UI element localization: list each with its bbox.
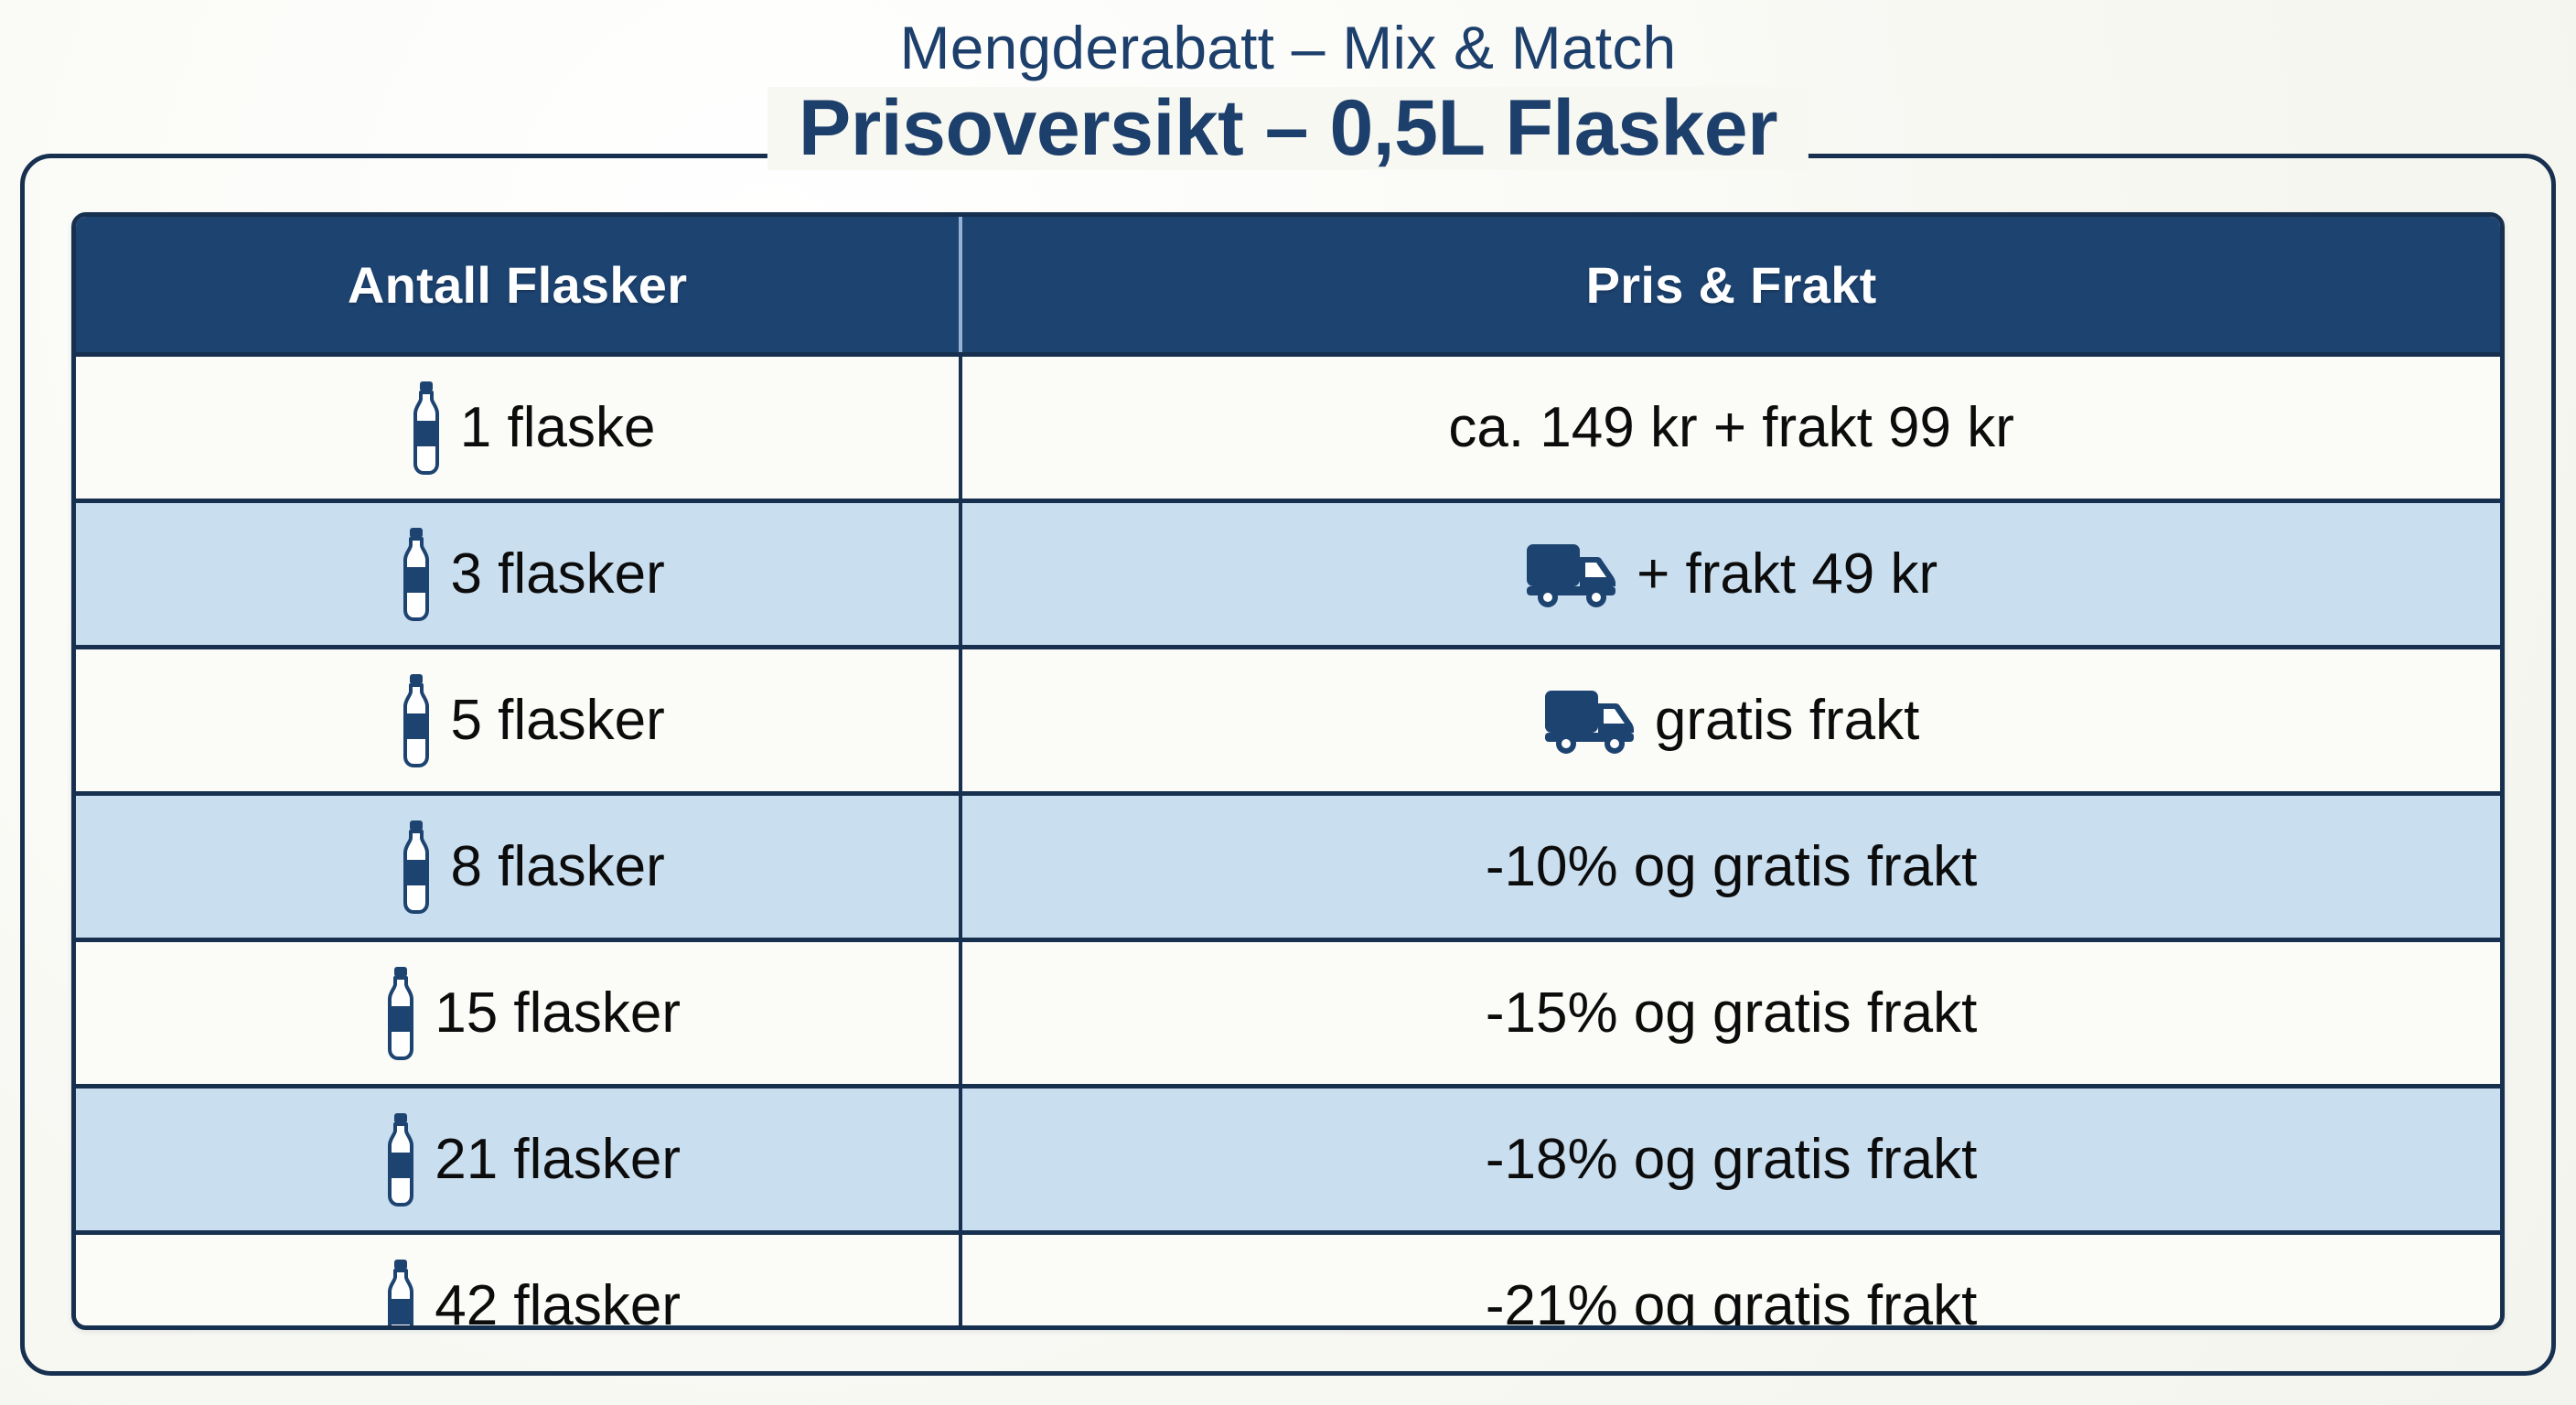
bottle-icon — [380, 1259, 422, 1331]
quantity-content: 42 flasker — [111, 1259, 950, 1331]
quantity-label: 15 flasker — [435, 985, 681, 1042]
cell-price: -10% og gratis frakt — [961, 794, 2500, 940]
price-content: ca. 149 kr + frakt 99 kr — [971, 400, 2491, 456]
table-head: Antall Flasker Pris & Frakt — [76, 217, 2500, 355]
quantity-label: 3 flasker — [450, 546, 664, 603]
cell-price: -18% og gratis frakt — [961, 1087, 2500, 1233]
price-content: -10% og gratis frakt — [971, 839, 2491, 896]
cell-quantity: 42 flasker — [76, 1233, 961, 1331]
bottle-icon — [380, 1112, 422, 1207]
table-header-row: Antall Flasker Pris & Frakt — [76, 217, 2500, 355]
price-content: -15% og gratis frakt — [971, 985, 2491, 1042]
cell-quantity: 21 flasker — [76, 1087, 961, 1233]
price-table: Antall Flasker Pris & Frakt 1 flaskeca. … — [76, 217, 2500, 1330]
bottle-icon — [380, 966, 422, 1061]
cell-price: ca. 149 kr + frakt 99 kr — [961, 355, 2500, 501]
price-content: + frakt 49 kr — [971, 541, 2491, 608]
table-row: 3 flasker + frakt 49 kr — [76, 501, 2500, 648]
bottle-icon — [395, 820, 437, 915]
quantity-label: 21 flasker — [435, 1132, 681, 1188]
price-label: -10% og gratis frakt — [1486, 839, 1978, 896]
cell-price: -15% og gratis frakt — [961, 940, 2500, 1087]
page-subtitle: Mengderabatt – Mix & Match — [900, 16, 1677, 80]
quantity-label: 8 flasker — [450, 839, 664, 896]
cell-price: gratis frakt — [961, 648, 2500, 794]
cell-quantity: 5 flasker — [76, 648, 961, 794]
quantity-content: 15 flasker — [111, 966, 950, 1061]
cell-price: + frakt 49 kr — [961, 501, 2500, 648]
table-row: 5 flasker gratis frakt — [76, 648, 2500, 794]
quantity-content: 3 flasker — [111, 527, 950, 622]
truck-icon — [1543, 687, 1642, 755]
cell-quantity: 8 flasker — [76, 794, 961, 940]
price-label: + frakt 49 kr — [1637, 546, 1937, 603]
quantity-label: 42 flasker — [435, 1278, 681, 1331]
truck-icon — [1525, 541, 1624, 608]
quantity-content: 21 flasker — [111, 1112, 950, 1207]
cell-quantity: 3 flasker — [76, 501, 961, 648]
cell-quantity: 1 flaske — [76, 355, 961, 501]
price-label: ca. 149 kr + frakt 99 kr — [1448, 400, 2014, 456]
price-label: -21% og gratis frakt — [1486, 1278, 1978, 1331]
price-overview-page: Mengderabatt – Mix & Match Prisoversikt … — [0, 0, 2576, 1405]
page-title: Prisoversikt – 0,5L Flasker — [767, 87, 1809, 170]
price-label: -18% og gratis frakt — [1486, 1132, 1978, 1188]
price-label: gratis frakt — [1655, 692, 1919, 749]
table-row: 21 flasker-18% og gratis frakt — [76, 1087, 2500, 1233]
table-row: 1 flaskeca. 149 kr + frakt 99 kr — [76, 355, 2500, 501]
quantity-label: 5 flasker — [450, 692, 664, 749]
column-header-quantity: Antall Flasker — [76, 217, 961, 355]
table-row: 8 flasker-10% og gratis frakt — [76, 794, 2500, 940]
quantity-content: 8 flasker — [111, 820, 950, 915]
price-content: -21% og gratis frakt — [971, 1278, 2491, 1331]
cell-price: -21% og gratis frakt — [961, 1233, 2500, 1331]
price-content: -18% og gratis frakt — [971, 1132, 2491, 1188]
price-table-container: Antall Flasker Pris & Frakt 1 flaskeca. … — [71, 212, 2505, 1330]
column-header-price: Pris & Frakt — [961, 217, 2500, 355]
table-body: 1 flaskeca. 149 kr + frakt 99 kr 3 flask… — [76, 355, 2500, 1331]
price-label: -15% og gratis frakt — [1486, 985, 1978, 1042]
quantity-content: 5 flasker — [111, 673, 950, 768]
cell-quantity: 15 flasker — [76, 940, 961, 1087]
bottle-icon — [395, 673, 437, 768]
bottle-icon — [395, 527, 437, 622]
bottle-icon — [405, 381, 447, 476]
table-row: 15 flasker-15% og gratis frakt — [76, 940, 2500, 1087]
quantity-content: 1 flaske — [111, 381, 950, 476]
table-row: 42 flasker-21% og gratis frakt — [76, 1233, 2500, 1331]
quantity-label: 1 flaske — [460, 400, 656, 456]
price-content: gratis frakt — [971, 687, 2491, 755]
